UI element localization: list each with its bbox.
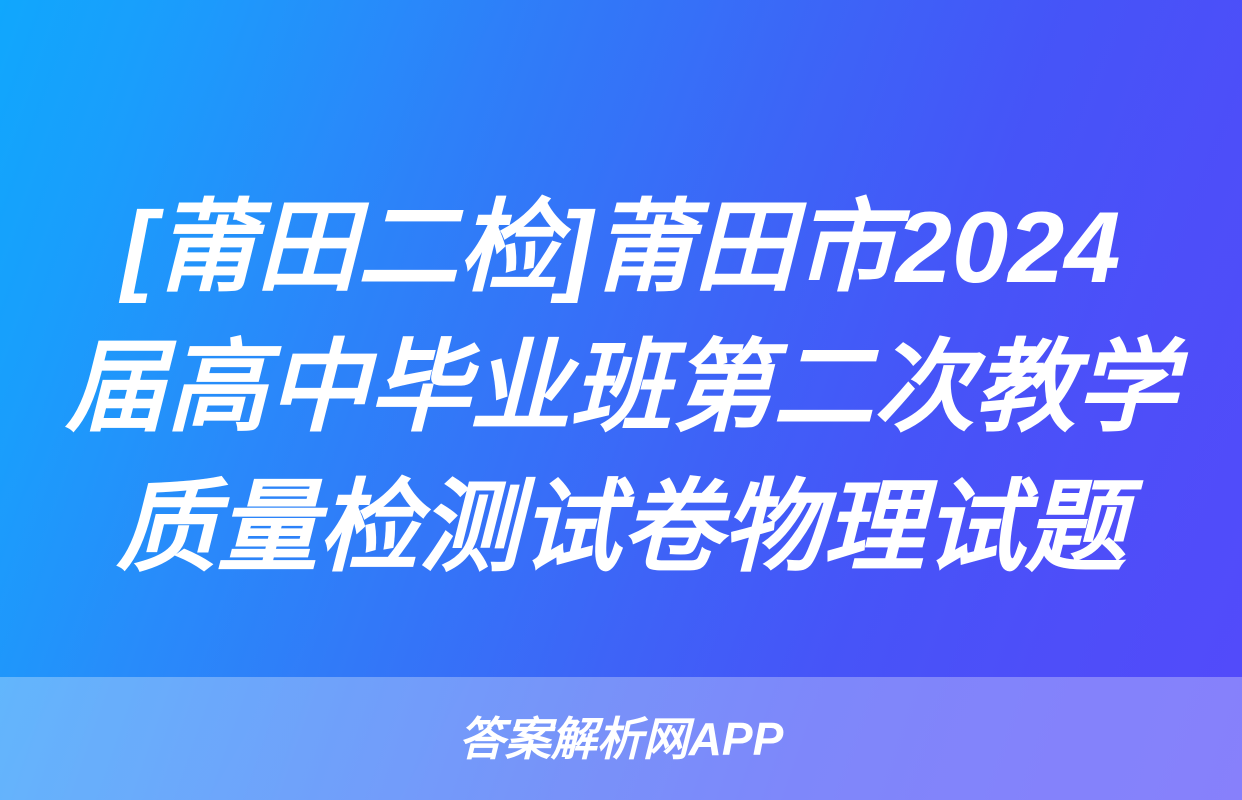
page-title-line-2: 届高中毕业班第二次教学 bbox=[0, 318, 1242, 458]
page-title-line-3: 质量检测试卷物理试题 bbox=[0, 458, 1242, 598]
page-title: [莆田二检]莆田市2024 届高中毕业班第二次教学 质量检测试卷物理试题 bbox=[0, 178, 1242, 598]
poster-canvas: [莆田二检]莆田市2024 届高中毕业班第二次教学 质量检测试卷物理试题 答案解… bbox=[0, 0, 1242, 800]
app-watermark: 答案解析网APP bbox=[0, 706, 1242, 772]
page-title-line-1: [莆田二检]莆田市2024 bbox=[0, 178, 1242, 318]
